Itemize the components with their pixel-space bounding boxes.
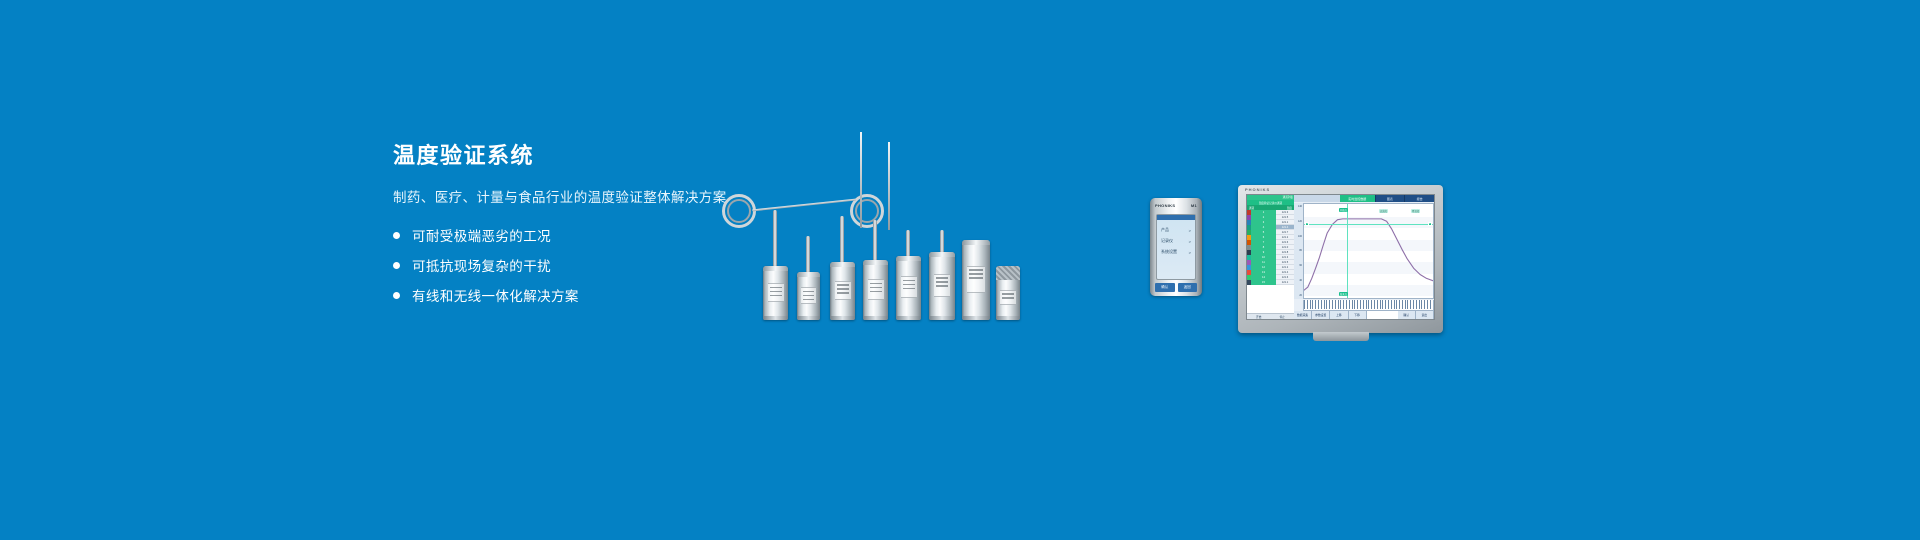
y-tick-label: 80 [1299,249,1302,252]
logger-label [1000,290,1015,305]
probe-stem [840,216,844,262]
data-logger [763,266,788,320]
data-logger [896,256,921,320]
menu-item[interactable]: 记录仪 > [1161,238,1191,244]
probe-stem [806,236,810,272]
toolbar-confirm-button[interactable]: 确认 [1398,311,1416,319]
handheld-menu: 产品 > 记录仪 > 系统设置 > [1157,220,1195,255]
x-axis-ticks [1303,300,1434,311]
needle-probe-icon [860,132,862,228]
stop-button[interactable]: 停止 [1271,314,1295,319]
marker-start[interactable]: 开始点 [1339,208,1348,212]
logger-label [768,283,784,301]
handheld-brand: PHONIKS [1155,203,1175,211]
handheld-reader[interactable]: PHONIKS M1 产品 > 记录仪 > 系统设置 > 确认 [1150,198,1202,296]
handheld-model: M1 [1191,203,1197,211]
tab-realtime[interactable]: 实时监控数据 [1340,195,1375,202]
data-logger [962,240,990,320]
plot-wrapper: 14012010080604020 A B [1294,202,1434,300]
handle-b[interactable]: B [1428,222,1432,226]
toolbar-settings-button[interactable]: 参数设置 [1312,311,1330,319]
handheld-buttons: 确认 返回 [1155,283,1197,292]
bullet-dot-icon [393,232,400,239]
data-logger [797,272,820,320]
chevron-right-icon: > [1189,250,1191,255]
data-logger [929,252,955,320]
menu-item-label: 记录仪 [1161,238,1173,244]
menu-item-label: 系统设置 [1161,249,1177,255]
menu-item-label: 产品 [1161,227,1169,233]
toolbar-collect-button[interactable]: 数据采集 [1294,311,1312,319]
channel-row-list[interactable]: 1121.32121.53121.14121.45121.76121.27121… [1247,210,1294,313]
handheld-brand-row: PHONIKS M1 [1150,203,1202,211]
monitor: PHONIKS 通道列表 温度验证记录仪通道 通道 温度 1121.32121.… [1238,185,1443,333]
y-tick-label: 120 [1298,220,1302,223]
data-logger [830,262,855,320]
hero-banner: 温度验证系统 制药、医疗、计量与食品行业的温度验证整体解决方案 可耐受极端恶劣的… [0,0,1920,540]
bullet-dot-icon [393,292,400,299]
probe-stem [773,210,777,266]
coiled-probe-inner-icon [727,199,751,223]
marker-cooldown: 降温段 [1411,209,1420,213]
tab-chart[interactable]: 图表 [1375,195,1405,202]
tab-spacer [1294,195,1340,202]
y-tick-label: 140 [1298,205,1302,208]
y-tick-label: 40 [1299,279,1302,282]
channel-value: 121.1 [1276,280,1294,285]
feature-label: 可耐受极端恶劣的工况 [412,225,551,245]
y-tick-label: 20 [1299,294,1302,297]
probe-stem [906,230,910,256]
monitor-stand [1313,332,1369,341]
data-logger-mesh [996,266,1020,320]
probe-stem [873,220,877,260]
chevron-right-icon: > [1189,228,1191,233]
logger-label [835,281,851,301]
logger-label [967,266,985,293]
temperature-curve [1304,204,1433,298]
software-body: 通道列表 温度验证记录仪通道 通道 温度 1121.32121.53121.14… [1247,195,1434,319]
confirm-button[interactable]: 确认 [1155,283,1175,292]
x-tick [1430,300,1433,309]
chart-panel: 实时监控数据 图表 报告 14012010080604020 [1294,195,1434,319]
column-header-channel: 通道 [1249,206,1254,210]
start-button[interactable]: 开始 [1247,314,1271,319]
bullet-dot-icon [393,262,400,269]
handheld-screen: 产品 > 记录仪 > 系统设置 > [1156,214,1196,280]
toolbar-status-field [1367,311,1398,319]
cursor-line [1347,204,1348,298]
toolbar-exit-button[interactable]: 退出 [1416,311,1434,319]
monitor-brand: PHONIKS [1245,187,1270,192]
feature-label: 可抵抗现场复杂的干扰 [412,255,551,275]
menu-item[interactable]: 系统设置 > [1161,249,1191,255]
toolbar-up-button[interactable]: 上移 [1330,311,1348,319]
y-axis: 14012010080604020 [1294,203,1303,299]
logger-label [801,287,816,303]
tab-bar: 实时监控数据 图表 报告 [1294,195,1434,202]
y-tick-label: 100 [1298,235,1302,238]
column-header-value: 温度 [1287,206,1292,210]
sidebar-footer: 开始 停止 [1247,313,1294,319]
menu-item[interactable]: 产品 > [1161,227,1191,233]
channel-id: 15 [1251,280,1276,285]
logger-label [901,276,917,298]
data-logger [863,260,888,320]
monitor-bezel: PHONIKS 通道列表 温度验证记录仪通道 通道 温度 1121.32121.… [1238,185,1443,333]
needle-probe-icon [888,142,890,230]
logger-label [934,274,951,297]
software-toolbar: 数据采集 参数设置 上移 下移 确认 退出 [1294,311,1434,319]
back-button[interactable]: 返回 [1178,283,1198,292]
mesh-filter-icon [996,266,1020,280]
software-window: 通道列表 温度验证记录仪通道 通道 温度 1121.32121.53121.14… [1246,194,1435,320]
feature-label: 有线和无线一体化解决方案 [412,285,579,305]
marker-sterilize: 灭菌段 [1379,209,1388,213]
probe-stem [940,230,944,252]
table-row[interactable]: 15121.1 [1247,280,1294,285]
logger-label [868,279,884,299]
toolbar-down-button[interactable]: 下移 [1349,311,1367,319]
probe-wire [752,199,856,212]
tab-report[interactable]: 报告 [1404,195,1434,202]
reference-line [1304,224,1433,225]
y-tick-label: 60 [1299,264,1302,267]
marker-end[interactable]: 结束点 [1339,292,1348,296]
handle-a[interactable]: A [1305,222,1309,226]
temperature-chart[interactable]: A B 开始点 灭菌段 降温段 结束点 [1303,203,1434,299]
channel-sidebar: 通道列表 温度验证记录仪通道 通道 温度 1121.32121.53121.14… [1247,195,1294,319]
chevron-right-icon: > [1189,239,1191,244]
